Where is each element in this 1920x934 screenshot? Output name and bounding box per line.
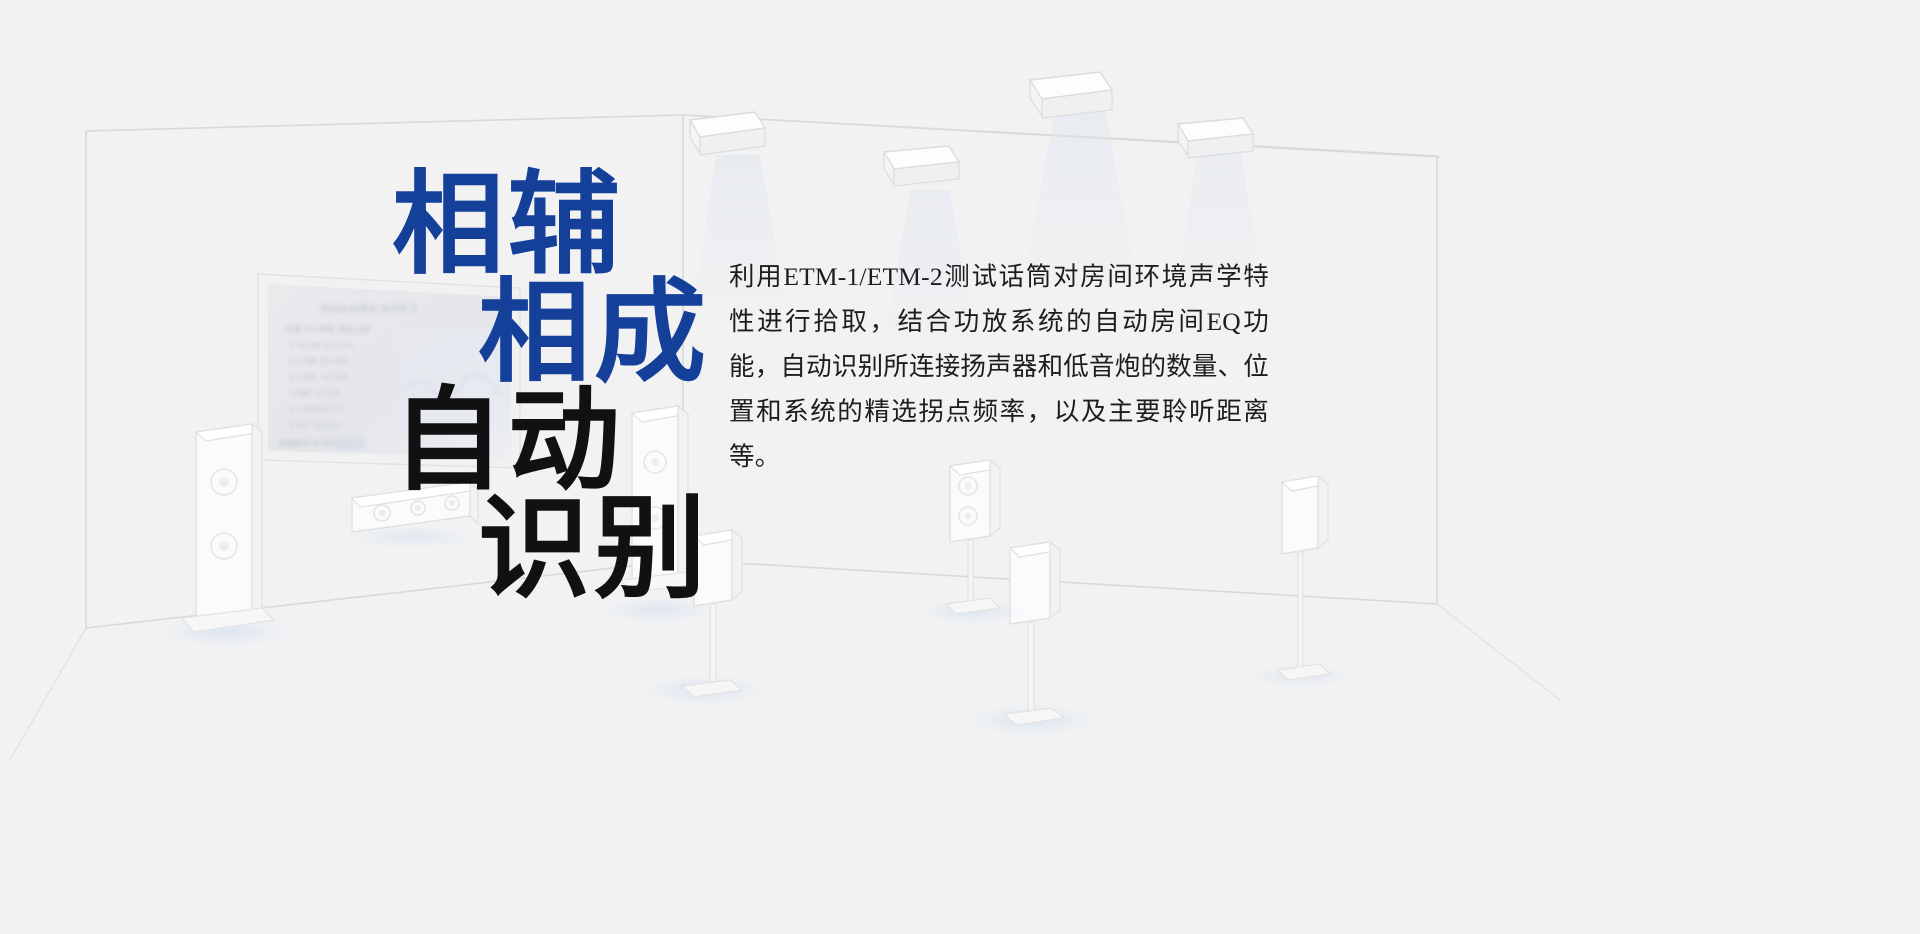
svg-text:5 1.47K 8.5 7.1: 5 1.47K 8.5 7.1 — [290, 405, 345, 414]
headline-line-1: 相辅 — [392, 170, 624, 282]
svg-text:6 427 -4.5 2.1: 6 427 -4.5 2.1 — [290, 421, 340, 430]
headline-line-2: 相成 — [478, 278, 710, 390]
svg-text:2 1.29K 22.9 9.9: 2 1.29K 22.9 9.9 — [290, 357, 349, 366]
headline-line-4: 识别 — [478, 494, 710, 606]
svg-text:房间自动测试 自动学习: 房间自动测试 自动学习 — [320, 303, 418, 314]
headline-line-3: 自动 — [392, 386, 624, 498]
ceiling-speaker — [690, 112, 765, 155]
bookshelf-speaker-on-stand — [962, 542, 1102, 737]
slide-canvas: 房间自动测试 自动学习 位置 中心频率 增益 Q值 1 16.11K 12.9 … — [0, 0, 1920, 934]
body-paragraph: 利用ETM-1/ETM-2测试话筒对房间环境声学特性进行拾取，结合功放系统的自动… — [729, 254, 1269, 479]
svg-text:4 266 -6.3 3.9: 4 266 -6.3 3.9 — [290, 389, 340, 398]
svg-text:3 7.35K -9.5 9.9: 3 7.35K -9.5 9.9 — [290, 373, 347, 382]
svg-text:位置 中心频率 增益 Q值: 位置 中心频率 增益 Q值 — [285, 324, 370, 334]
ceiling-speaker — [884, 146, 959, 186]
svg-text:1 16.11K 12.9 2.6: 1 16.11K 12.9 2.6 — [290, 341, 353, 350]
ceiling-speaker — [1178, 118, 1253, 158]
body-paragraph-block: 利用ETM-1/ETM-2测试话筒对房间环境声学特性进行拾取，结合功放系统的自动… — [729, 254, 1269, 479]
ceiling-speaker — [1030, 72, 1112, 118]
bookshelf-speaker-on-stand — [1244, 476, 1356, 689]
